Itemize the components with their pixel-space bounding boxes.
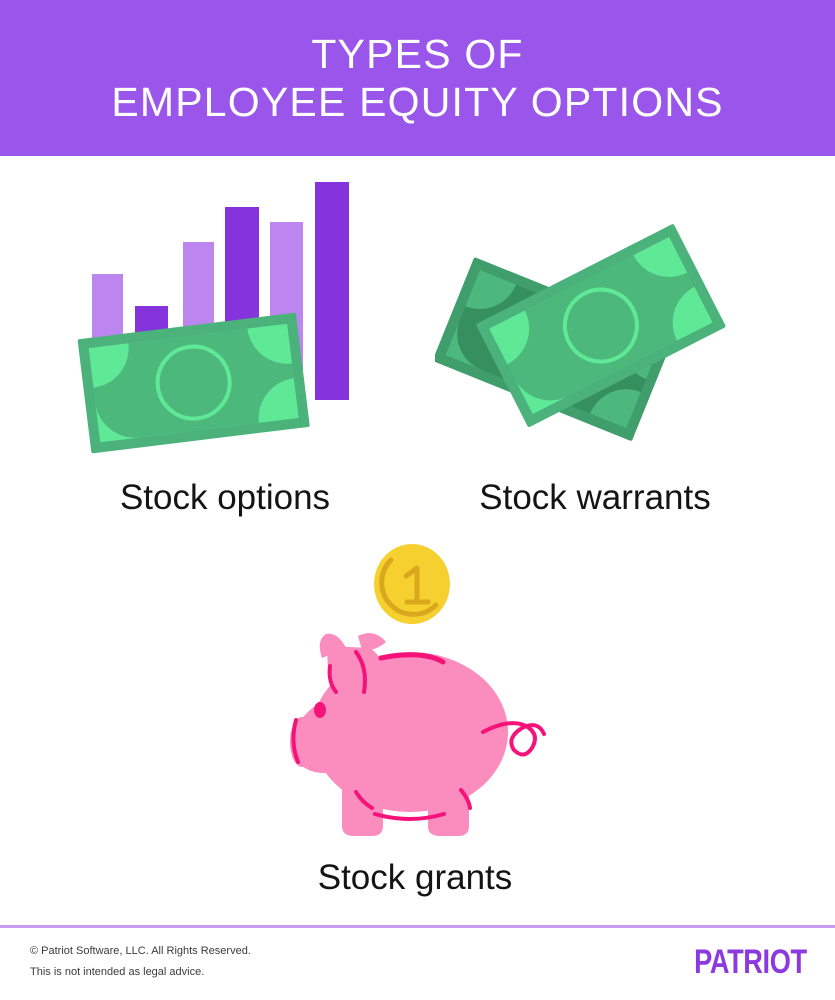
page-title-line-2: EMPLOYEE EQUITY OPTIONS <box>111 78 723 126</box>
disclaimer-text: This is not intended as legal advice. <box>30 962 550 983</box>
stock-grants-label: Stock grants <box>230 858 600 898</box>
patriot-logo: PATRIOT <box>694 945 807 979</box>
stock-warrants-illustration <box>435 176 745 466</box>
infographic-body: Stock options Stock warrants Stock grant… <box>0 156 835 925</box>
stock-warrants-label: Stock warrants <box>405 478 785 518</box>
footer: © Patriot Software, LLC. All Rights Rese… <box>0 925 835 1000</box>
footer-divider <box>0 925 835 928</box>
stock-options-illustration <box>70 176 370 466</box>
page-title-line-1: TYPES OF <box>311 30 523 78</box>
header-banner: TYPES OF EMPLOYEE EQUITY OPTIONS <box>0 0 835 156</box>
footer-legal-text: © Patriot Software, LLC. All Rights Rese… <box>30 941 550 984</box>
coin-icon <box>374 544 450 624</box>
stock-grants-illustration <box>250 536 570 856</box>
stock-options-label: Stock options <box>40 478 410 518</box>
copyright-text: © Patriot Software, LLC. All Rights Rese… <box>30 941 550 962</box>
piggy-bank-icon <box>290 633 544 836</box>
